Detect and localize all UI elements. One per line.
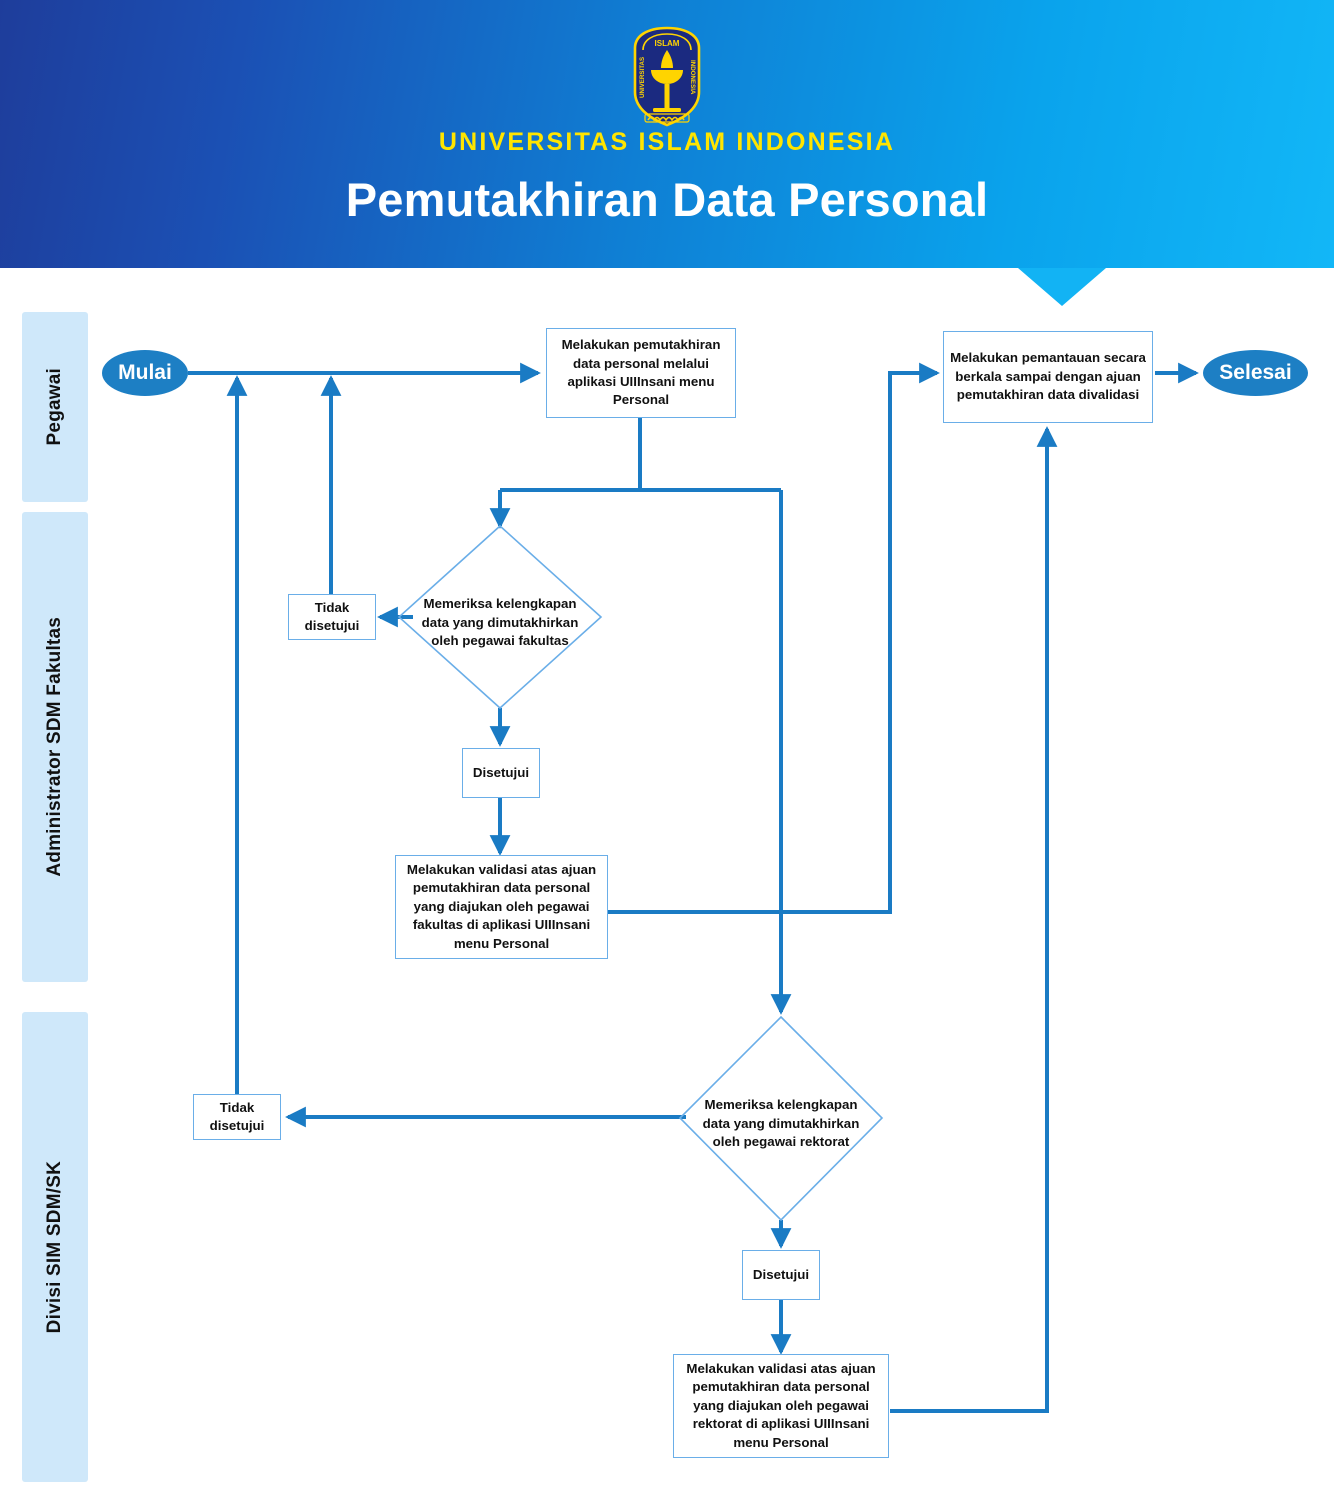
edge-validate-rektorat-to-monitor bbox=[890, 429, 1047, 1411]
node-update-data[interactable]: Melakukan pemutakhiran data personal mel… bbox=[546, 328, 736, 418]
node-approved-rektorat-label: Disetujui bbox=[753, 1266, 809, 1284]
node-validate-fakultas[interactable]: Melakukan validasi atas ajuan pemutakhir… bbox=[395, 855, 608, 959]
node-start-label: Mulai bbox=[118, 361, 172, 385]
node-update-data-label: Melakukan pemutakhiran data personal mel… bbox=[553, 336, 729, 409]
node-decision-fakultas-label: Memeriksa kelengkapan data yang dimutakh… bbox=[422, 596, 579, 648]
connector-layer bbox=[0, 0, 1334, 1500]
node-start[interactable]: Mulai bbox=[102, 350, 188, 396]
node-validate-rektorat[interactable]: Melakukan validasi atas ajuan pemutakhir… bbox=[673, 1354, 889, 1458]
node-monitor[interactable]: Melakukan pemantauan secara berkala samp… bbox=[943, 331, 1153, 423]
node-decision-rektorat[interactable]: Memeriksa kelengkapan data yang dimutakh… bbox=[691, 1096, 871, 1152]
flowchart: Mulai Melakukan pemutakhiran data person… bbox=[0, 0, 1334, 1500]
node-approved-fakultas[interactable]: Disetujui bbox=[462, 748, 540, 798]
node-rejected-fakultas-label: Tidak disetujui bbox=[295, 599, 369, 636]
node-rejected-rektorat[interactable]: Tidak disetujui bbox=[193, 1094, 281, 1140]
node-rejected-rektorat-label: Tidak disetujui bbox=[200, 1099, 274, 1136]
node-validate-rektorat-label: Melakukan validasi atas ajuan pemutakhir… bbox=[680, 1360, 882, 1452]
node-end-label: Selesai bbox=[1219, 361, 1291, 385]
node-rejected-fakultas[interactable]: Tidak disetujui bbox=[288, 594, 376, 640]
node-end[interactable]: Selesai bbox=[1203, 350, 1308, 396]
node-decision-rektorat-label: Memeriksa kelengkapan data yang dimutakh… bbox=[703, 1097, 860, 1149]
edge-validate-fakultas-to-monitor bbox=[608, 373, 937, 912]
node-approved-fakultas-label: Disetujui bbox=[473, 764, 529, 782]
node-approved-rektorat[interactable]: Disetujui bbox=[742, 1250, 820, 1300]
node-validate-fakultas-label: Melakukan validasi atas ajuan pemutakhir… bbox=[402, 861, 601, 953]
node-monitor-label: Melakukan pemantauan secara berkala samp… bbox=[950, 349, 1146, 404]
node-decision-fakultas[interactable]: Memeriksa kelengkapan data yang dimutakh… bbox=[410, 595, 590, 651]
